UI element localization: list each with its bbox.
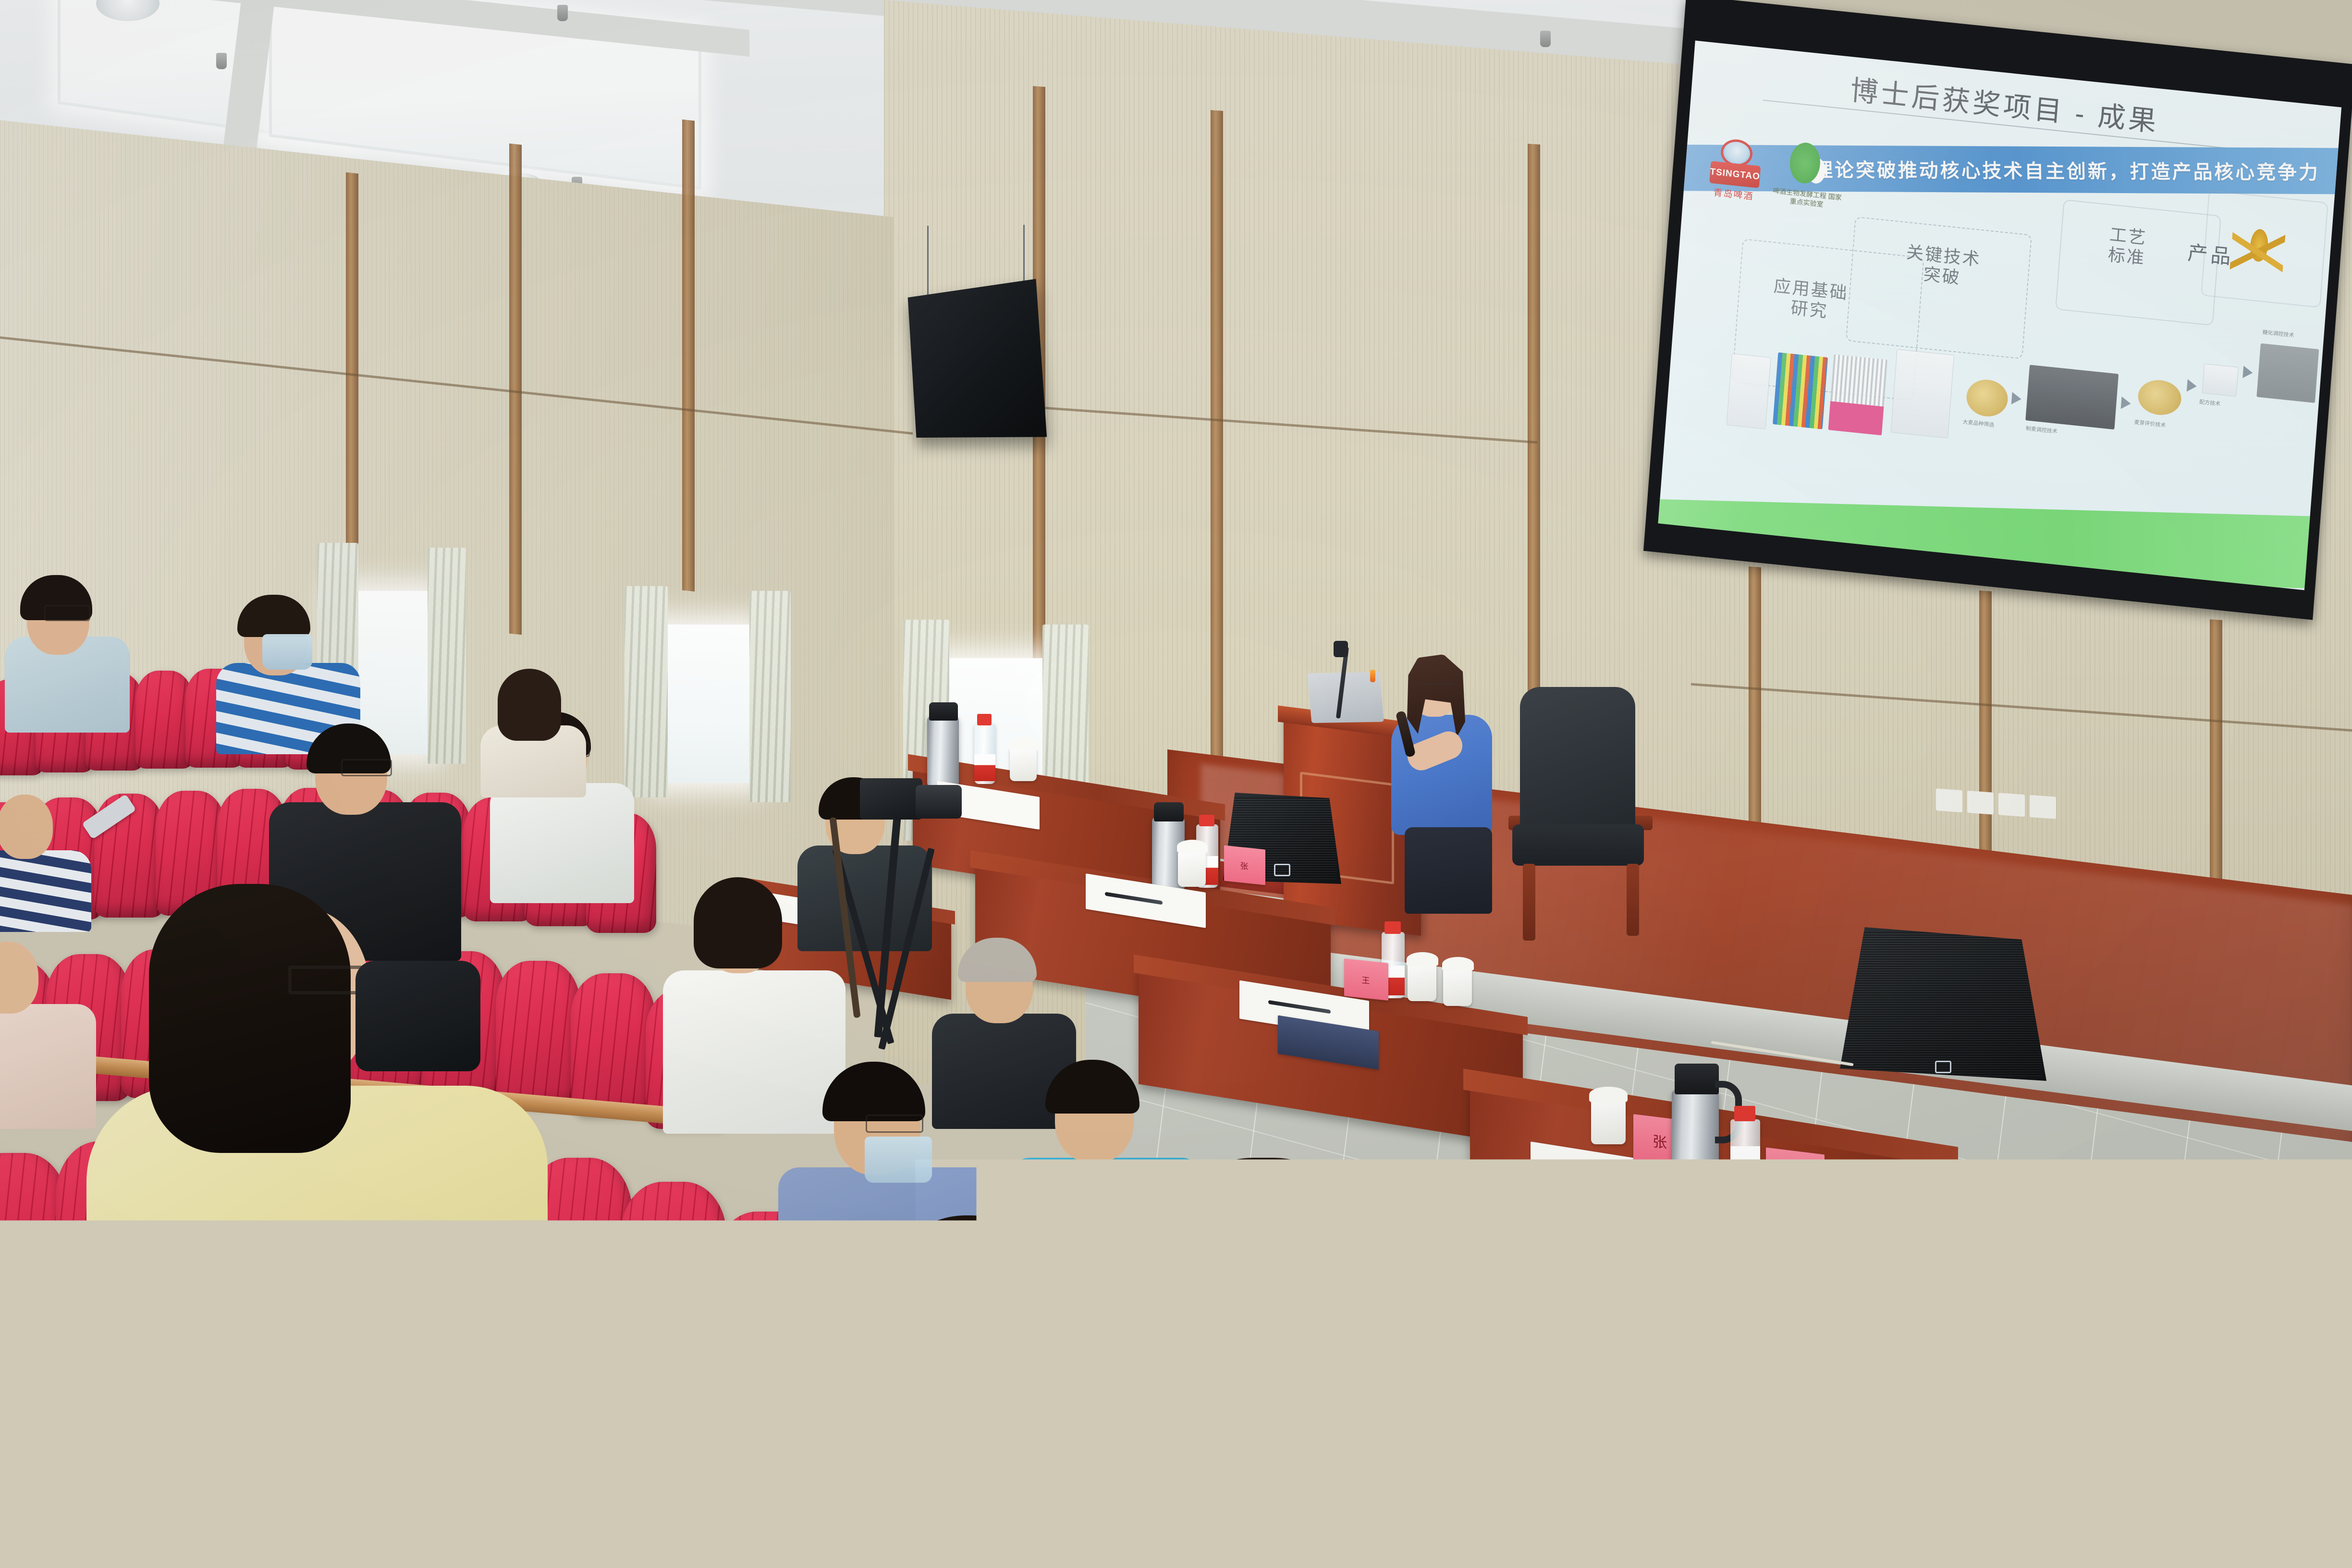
backpack xyxy=(355,961,480,1071)
slide-figure-malt xyxy=(2137,378,2182,417)
audience-glasses xyxy=(866,1115,923,1133)
presenter xyxy=(1384,658,1494,908)
monitor-logo-right xyxy=(1935,1061,1951,1073)
audience-head xyxy=(0,795,53,859)
keys-d xyxy=(1603,1233,1665,1262)
monitor-logo-left xyxy=(1274,864,1290,876)
slide-figure-table xyxy=(1727,353,1771,429)
audience-member-front-right-phone xyxy=(1086,1148,1518,1568)
audience-hair xyxy=(237,595,310,637)
teacup-lid-a xyxy=(1009,737,1039,750)
chair-seat xyxy=(1512,824,1644,866)
slide-banner-text: 以理论突破推动核心技术自主创新，打造产品核心竞争力 xyxy=(1792,154,2320,185)
chair-leg-left xyxy=(1523,864,1535,941)
sprinkler-1 xyxy=(216,53,227,69)
thermos-cap-a xyxy=(929,702,958,721)
audience-member-far-left-partial xyxy=(0,778,106,932)
bottle-cap-d xyxy=(1734,1106,1755,1121)
flow-arrow-4 xyxy=(2242,366,2253,379)
audience-member-yellow-blouse xyxy=(86,879,615,1446)
bottle-label-a xyxy=(974,754,995,781)
audience-member-bottom-left-edge xyxy=(0,1379,192,1568)
teacup-c1 xyxy=(1408,964,1436,1001)
flow-arrow-1 xyxy=(2011,392,2022,405)
audience-hair xyxy=(822,1062,925,1121)
audience-member-back-blouse xyxy=(480,663,596,797)
slide-figure-heatmap xyxy=(1773,352,1828,429)
audience-hair xyxy=(149,884,351,1153)
audience-torso xyxy=(0,1408,173,1568)
sprinkler-3 xyxy=(557,5,568,21)
seat[interactable] xyxy=(621,1182,726,1357)
curtain-mid-b xyxy=(749,591,791,802)
teacup-lid-b xyxy=(1177,840,1208,853)
sprinkler-5 xyxy=(1540,31,1551,47)
tsingtao-wordmark: TSINGTAO xyxy=(1709,161,1761,188)
chair-backrest xyxy=(1520,687,1635,831)
leaf-icon xyxy=(1785,140,1834,191)
process-step-2: 制麦调控技术 xyxy=(2025,425,2097,440)
audience-torso xyxy=(0,1004,96,1129)
monitor-grille-right xyxy=(1845,932,2042,1076)
audience-torso xyxy=(0,850,91,932)
thermos-cap-d xyxy=(1675,1064,1719,1094)
process-step-3: 麦芽评价技术 xyxy=(2134,419,2192,432)
process-step-1: 大麦品种筛选 xyxy=(1962,419,2016,431)
audience-hair xyxy=(498,669,561,741)
slide-figure-barley xyxy=(1965,378,2009,418)
chair-leg-right xyxy=(1627,864,1639,936)
bottle-cap-c xyxy=(1384,921,1401,934)
teacup-d xyxy=(1591,1100,1626,1144)
audience-hair xyxy=(958,938,1037,982)
teacup-lid-c2 xyxy=(1442,957,1474,971)
slide-figure-diagram xyxy=(1890,349,1954,439)
wall-divider-3 xyxy=(682,120,695,592)
tsingtao-name-cn: 青岛啤酒 xyxy=(1713,185,1754,203)
namecard-c: 王 xyxy=(1344,958,1388,1001)
face-mask xyxy=(262,634,312,670)
teacup-c2 xyxy=(1443,968,1472,1006)
executive-chair[interactable] xyxy=(1504,687,1662,946)
gooseneck-microphone-head xyxy=(1334,641,1348,657)
teacup-lid-c1 xyxy=(1407,952,1438,967)
flow-stage-label-4: 产品 xyxy=(2187,236,2235,270)
teacup-b xyxy=(1178,851,1206,887)
window-mid xyxy=(653,625,754,783)
audience-head xyxy=(0,942,38,1014)
flow-arrow-2 xyxy=(2121,396,2131,410)
audience-member-left-edge xyxy=(0,927,106,1129)
audience-hair xyxy=(694,877,782,968)
presenter-legs xyxy=(1405,827,1492,914)
bottle-cap-a xyxy=(977,714,992,725)
wall-divider-5 xyxy=(1211,110,1223,841)
lab-logo: 啤酒生物发酵工程 国家重点实验室 xyxy=(1769,139,1847,223)
slide-figure-formula xyxy=(2202,364,2239,397)
face-mask xyxy=(865,1137,932,1183)
microphone-indicator-light xyxy=(1370,670,1375,682)
audience-glasses xyxy=(44,605,90,621)
namecard-b: 张 xyxy=(1224,845,1265,885)
flow-arrow-3 xyxy=(2187,379,2197,392)
audience-hair xyxy=(884,1215,1052,1408)
process-step-4: 配方技术 xyxy=(2199,399,2253,411)
lab-name-cn: 啤酒生物发酵工程 国家重点实验室 xyxy=(1770,186,1843,210)
presenter-glasses xyxy=(1416,683,1454,693)
teacup-lid-d xyxy=(1589,1087,1628,1103)
wall-divider-2 xyxy=(509,144,522,635)
wheat-icon xyxy=(2229,220,2286,283)
speaker-hang-wire-1 xyxy=(927,226,929,298)
tsingtao-logo: TSINGTAO 青岛啤酒 xyxy=(1705,137,1764,214)
paper-cup xyxy=(1028,1187,1069,1237)
audience-hair xyxy=(1045,1060,1139,1114)
projection-screen: 博士后获奖项目 - 成果 以理论突破推动核心技术自主创新，打造产品核心竞争力 T… xyxy=(1643,0,2352,620)
process-step-5: 糖化调控技术 xyxy=(2262,329,2325,343)
bottle-cap-b xyxy=(1199,815,1214,826)
dslr-camera-body xyxy=(860,778,922,820)
slide-figure-malting xyxy=(2025,365,2119,429)
bottle-label-d xyxy=(1730,1146,1760,1187)
slide-figure-barchart xyxy=(1828,354,1887,435)
thermos-d xyxy=(1672,1090,1719,1203)
hanging-line-array-speaker xyxy=(908,279,1047,438)
dslr-camera-lens xyxy=(916,785,962,819)
teacup-a xyxy=(1010,747,1037,781)
audience-glasses xyxy=(341,759,392,776)
auditorium-photo: 博士后获奖项目 - 成果 以理论突破推动核心技术自主创新，打造产品核心竞争力 T… xyxy=(0,0,2352,1568)
slide-content: 博士后获奖项目 - 成果 以理论突破推动核心技术自主创新，打造产品核心竞争力 T… xyxy=(1658,40,2341,590)
stage-monitor-right xyxy=(1840,927,2046,1081)
slide-figure-mash xyxy=(2256,343,2319,403)
audience-member-back-left xyxy=(5,564,149,728)
thermos-cap-b xyxy=(1154,802,1184,821)
